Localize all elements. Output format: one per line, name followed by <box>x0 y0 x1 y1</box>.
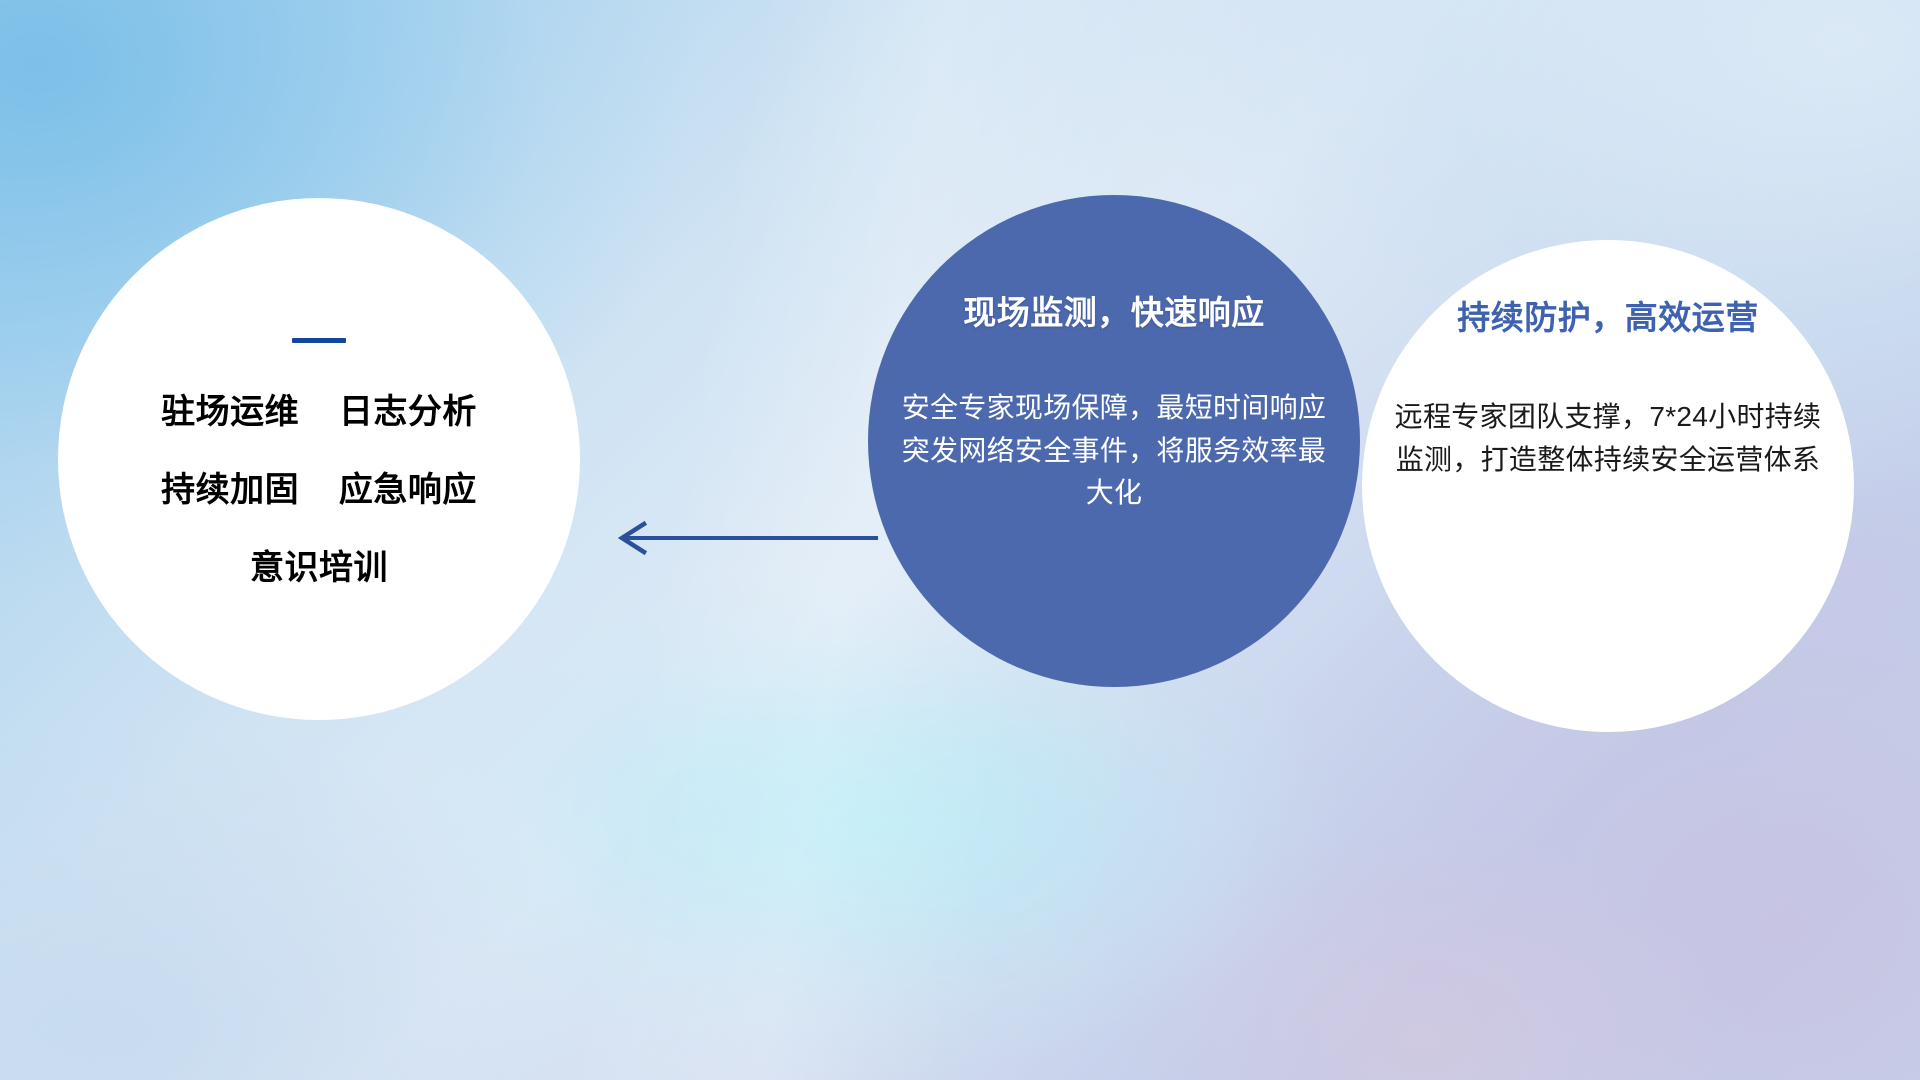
left-circle-content: 驻场运维 日志分析 持续加固 应急响应 意识培训 <box>58 338 580 585</box>
left-capability-line-2: 持续加固 应急响应 <box>58 473 580 507</box>
left-pointing-arrow-icon <box>600 508 880 568</box>
left-capability-line-3: 意识培训 <box>58 551 580 585</box>
middle-service-circle[interactable]: 现场监测，快速响应 安全专家现场保障，最短时间响应突发网络安全事件，将服务效率最… <box>868 195 1360 687</box>
right-service-circle[interactable]: 持续防护，高效运营 远程专家团队支撑，7*24小时持续监测，打造整体持续安全运营… <box>1362 240 1854 732</box>
middle-circle-body: 安全专家现场保障，最短时间响应突发网络安全事件，将服务效率最大化 <box>890 387 1338 515</box>
right-circle-title: 持续防护，高效运营 <box>1388 300 1828 336</box>
right-circle-body: 远程专家团队支撑，7*24小时持续监测，打造整体持续安全运营体系 <box>1388 396 1828 481</box>
left-capability-circle[interactable]: 驻场运维 日志分析 持续加固 应急响应 意识培训 <box>58 198 580 720</box>
left-divider-rule <box>292 338 346 343</box>
slide-canvas: 驻场运维 日志分析 持续加固 应急响应 意识培训 持续防护，高效运营 远程专家团… <box>0 0 1920 1080</box>
middle-circle-title: 现场监测，快速响应 <box>890 295 1338 331</box>
left-capability-line-1: 驻场运维 日志分析 <box>58 395 580 429</box>
right-circle-content: 持续防护，高效运营 远程专家团队支撑，7*24小时持续监测，打造整体持续安全运营… <box>1362 300 1854 481</box>
middle-circle-content: 现场监测，快速响应 安全专家现场保障，最短时间响应突发网络安全事件，将服务效率最… <box>868 295 1360 515</box>
